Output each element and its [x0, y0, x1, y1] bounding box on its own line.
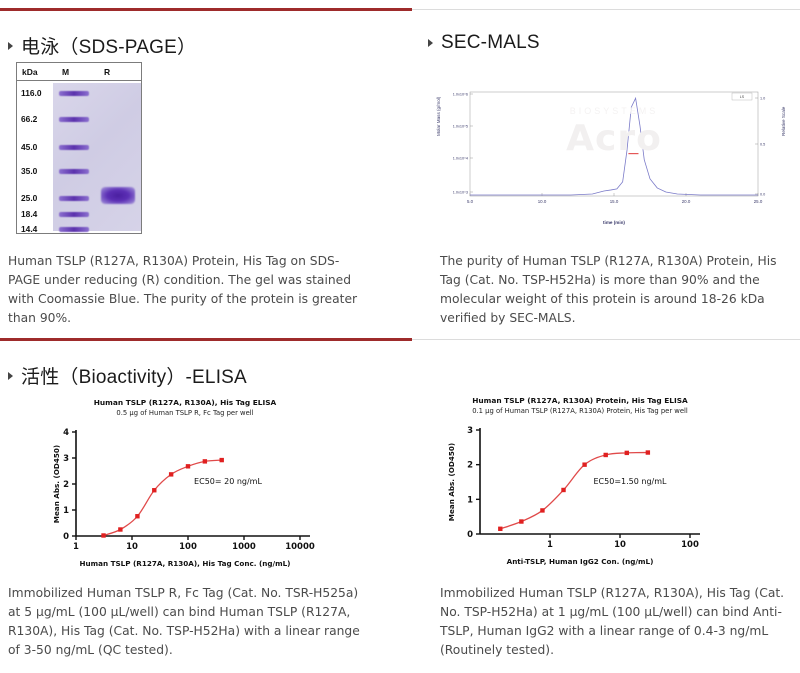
gel-body: 116.066.245.035.025.018.414.4 — [17, 81, 141, 233]
elisa2-subtitle: 0.1 µg of Human TSLP (R127A, R130A) Prot… — [440, 406, 720, 416]
caption-elisa-left: Immobilized Human TSLP R, Fc Tag (Cat. N… — [8, 584, 364, 660]
svg-text:1.0x10^6: 1.0x10^6 — [453, 93, 468, 97]
divider-top — [0, 8, 800, 11]
svg-text:10.0: 10.0 — [538, 199, 547, 204]
gel-lane-area — [53, 83, 141, 231]
svg-text:0: 0 — [467, 530, 473, 540]
gel-header-marker: M — [62, 67, 69, 77]
elisa-chart-left: Human TSLP (R127A, R130A), His Tag ELISA… — [50, 398, 320, 566]
section-header-sec-mals: SEC-MALS — [428, 32, 540, 54]
triangle-bullet-icon — [8, 42, 13, 50]
svg-text:10: 10 — [126, 542, 138, 552]
elisa1-subtitle: 0.5 µg of Human TSLP R, Fc Tag per well — [50, 408, 320, 418]
svg-text:10000: 10000 — [285, 542, 315, 552]
triangle-bullet-icon — [8, 372, 13, 380]
svg-text:10: 10 — [614, 540, 626, 550]
svg-text:4: 4 — [63, 428, 69, 438]
watermark-subtext: BIOSYSTEMS — [440, 106, 788, 116]
svg-text:1000: 1000 — [232, 542, 256, 552]
svg-text:1: 1 — [547, 540, 553, 550]
sds-page-gel-image: kDa M R 116.066.245.035.025.018.414.4 — [16, 62, 142, 234]
svg-text:2: 2 — [63, 480, 69, 490]
section-header-sds-page: 电泳（SDS-PAGE） — [8, 32, 196, 59]
caption-sec-mals: The purity of Human TSLP (R127A, R130A) … — [440, 252, 792, 328]
section-header-bioactivity: 活性（Bioactivity）-ELISA — [8, 362, 247, 389]
svg-text:2: 2 — [467, 461, 473, 471]
section-title-bioactivity: 活性（Bioactivity）-ELISA — [21, 362, 247, 389]
divider-middle — [0, 338, 800, 341]
svg-text:0: 0 — [63, 532, 69, 542]
sec-mals-x-axis-label: time (min) — [440, 220, 788, 225]
gel-ladder-label: 14.4 — [21, 224, 37, 234]
triangle-bullet-icon — [428, 39, 433, 47]
section-title-sec-mals: SEC-MALS — [441, 32, 540, 54]
divider-middle-accent — [0, 338, 412, 341]
gel-header-sample: R — [104, 67, 110, 77]
gel-lane-headers: kDa M R — [17, 63, 141, 81]
gel-ladder-label: 116.0 — [21, 88, 42, 98]
svg-text:3: 3 — [467, 426, 473, 436]
svg-text:25.0: 25.0 — [754, 199, 763, 204]
gel-ladder-labels: 116.066.245.035.025.018.414.4 — [17, 81, 51, 233]
gel-marker-band — [59, 212, 89, 217]
svg-text:Mean Abs. (OD450): Mean Abs. (OD450) — [52, 445, 61, 523]
caption-elisa-right: Immobilized Human TSLP (R127A, R130A), H… — [440, 584, 792, 660]
elisa1-plot: 01234110100100010000Mean Abs. (OD450)EC5… — [50, 418, 320, 558]
gel-ladder-label: 25.0 — [21, 193, 37, 203]
elisa1-title: Human TSLP (R127A, R130A), His Tag ELISA — [50, 398, 320, 408]
sec-mals-y2-axis-label: Relative Scale — [781, 107, 786, 136]
svg-text:1: 1 — [467, 495, 473, 505]
svg-text:1: 1 — [63, 506, 69, 516]
divider-top-accent — [0, 8, 412, 11]
svg-text:1: 1 — [73, 542, 79, 552]
divider-top-rule — [412, 9, 800, 10]
watermark-logo: Acro — [440, 118, 788, 159]
divider-middle-rule — [412, 339, 800, 340]
svg-text:15.0: 15.0 — [610, 199, 619, 204]
gel-sample-band — [101, 187, 135, 204]
caption-sds-page: Human TSLP (R127A, R130A) Protein, His T… — [8, 252, 360, 328]
svg-text:EC50= 20 ng/mL: EC50= 20 ng/mL — [194, 477, 262, 486]
gel-ladder-label: 35.0 — [21, 166, 37, 176]
svg-text:Mean Abs. (OD450): Mean Abs. (OD450) — [447, 443, 456, 521]
elisa-chart-right: Human TSLP (R127A, R130A) Protein, His T… — [440, 396, 720, 564]
section-title-sds-page: 电泳（SDS-PAGE） — [21, 32, 196, 59]
gel-ladder-label: 45.0 — [21, 142, 37, 152]
svg-text:100: 100 — [681, 540, 699, 550]
elisa2-plot: 0123110100Mean Abs. (OD450)EC50=1.50 ng/… — [440, 416, 720, 556]
sec-mals-chart: BIOSYSTEMS Acro Molar Mass (g/mol) Relat… — [440, 84, 788, 224]
elisa2-x-axis-label: Anti-TSLP, Human IgG2 Con. (ng/mL) — [440, 557, 720, 566]
gel-marker-band — [59, 169, 89, 174]
elisa2-title: Human TSLP (R127A, R130A) Protein, His T… — [440, 396, 720, 406]
svg-text:100: 100 — [179, 542, 197, 552]
svg-text:5.0: 5.0 — [467, 199, 474, 204]
svg-text:EC50=1.50 ng/mL: EC50=1.50 ng/mL — [594, 477, 668, 486]
gel-marker-band — [59, 145, 89, 150]
svg-text:3: 3 — [63, 454, 69, 464]
gel-ladder-label: 66.2 — [21, 114, 37, 124]
sec-mals-y-axis-label: Molar Mass (g/mol) — [436, 97, 441, 136]
svg-text:LS: LS — [740, 95, 745, 99]
svg-text:1.0: 1.0 — [760, 97, 765, 101]
gel-marker-band — [59, 196, 89, 201]
gel-header-kda: kDa — [22, 67, 38, 77]
elisa1-x-axis-label: Human TSLP (R127A, R130A), His Tag Conc.… — [50, 559, 320, 568]
svg-text:1.0x10^3: 1.0x10^3 — [453, 191, 468, 195]
svg-text:0.0: 0.0 — [760, 193, 765, 197]
gel-marker-band — [59, 91, 89, 96]
gel-marker-band — [59, 117, 89, 122]
gel-ladder-label: 18.4 — [21, 209, 37, 219]
gel-marker-band — [59, 227, 89, 232]
svg-text:20.0: 20.0 — [682, 199, 691, 204]
